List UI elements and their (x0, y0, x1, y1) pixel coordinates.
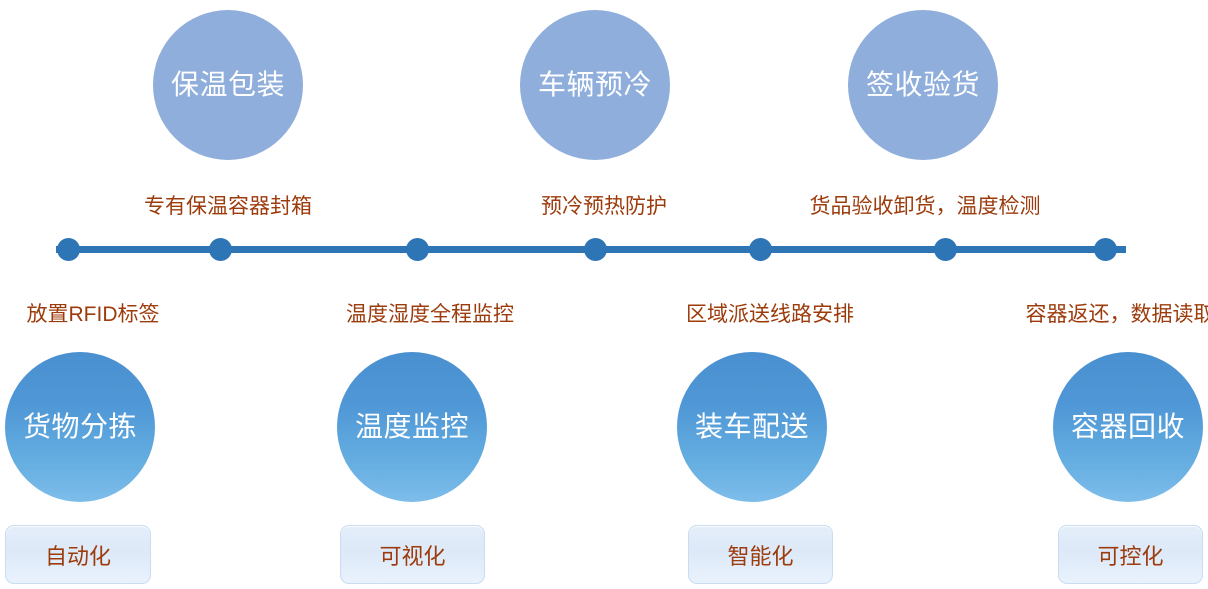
timeline-dot-5[interactable] (749, 238, 772, 261)
top-step-label-3: 货品验收卸货，温度检测 (810, 190, 1041, 220)
bottom-circle-title-2: 温度监控 (355, 411, 469, 443)
timeline-dot-7[interactable] (1094, 238, 1117, 261)
top-circle-3[interactable]: 签收验货 (848, 10, 998, 160)
top-step-label-2: 预冷预热防护 (541, 190, 667, 220)
bottom-circle-title-3: 装车配送 (695, 411, 809, 443)
badge-4[interactable]: 可控化 (1058, 525, 1203, 584)
timeline-dot-1[interactable] (57, 238, 80, 261)
badge-3[interactable]: 智能化 (688, 525, 833, 584)
badge-label-3: 智能化 (727, 539, 793, 571)
timeline-dot-2[interactable] (209, 238, 232, 261)
bottom-circle-4[interactable]: 容器回收 (1053, 352, 1203, 502)
top-step-label-1: 专有保温容器封箱 (144, 190, 312, 220)
bottom-circle-title-4: 容器回收 (1071, 411, 1185, 443)
bottom-circle-3[interactable]: 装车配送 (677, 352, 827, 502)
badge-label-2: 可视化 (379, 539, 445, 571)
bottom-circle-title-1: 货物分拣 (23, 411, 137, 443)
top-circle-1[interactable]: 保温包装 (153, 10, 303, 160)
top-circle-title-2: 车辆预冷 (538, 69, 652, 101)
badge-label-4: 可控化 (1097, 539, 1163, 571)
top-circle-title-3: 签收验货 (866, 69, 980, 101)
timeline-dot-4[interactable] (584, 238, 607, 261)
bottom-circle-2[interactable]: 温度监控 (337, 352, 487, 502)
bottom-step-label-3: 区域派送线路安排 (686, 298, 854, 328)
bottom-step-label-4: 容器返还，数据读取 (1026, 298, 1208, 328)
process-timeline-diagram: 保温包装专有保温容器封箱车辆预冷预冷预热防护签收验货货品验收卸货，温度检测 放置… (0, 0, 1208, 589)
timeline-dot-6[interactable] (934, 238, 957, 261)
timeline-dot-3[interactable] (406, 238, 429, 261)
bottom-step-label-1: 放置RFID标签 (27, 298, 160, 328)
badge-label-1: 自动化 (45, 539, 111, 571)
top-circle-2[interactable]: 车辆预冷 (520, 10, 670, 160)
badge-2[interactable]: 可视化 (340, 525, 485, 584)
bottom-step-label-2: 温度湿度全程监控 (346, 298, 514, 328)
top-circle-title-1: 保温包装 (171, 69, 285, 101)
bottom-circle-1[interactable]: 货物分拣 (5, 352, 155, 502)
badge-1[interactable]: 自动化 (5, 525, 151, 584)
